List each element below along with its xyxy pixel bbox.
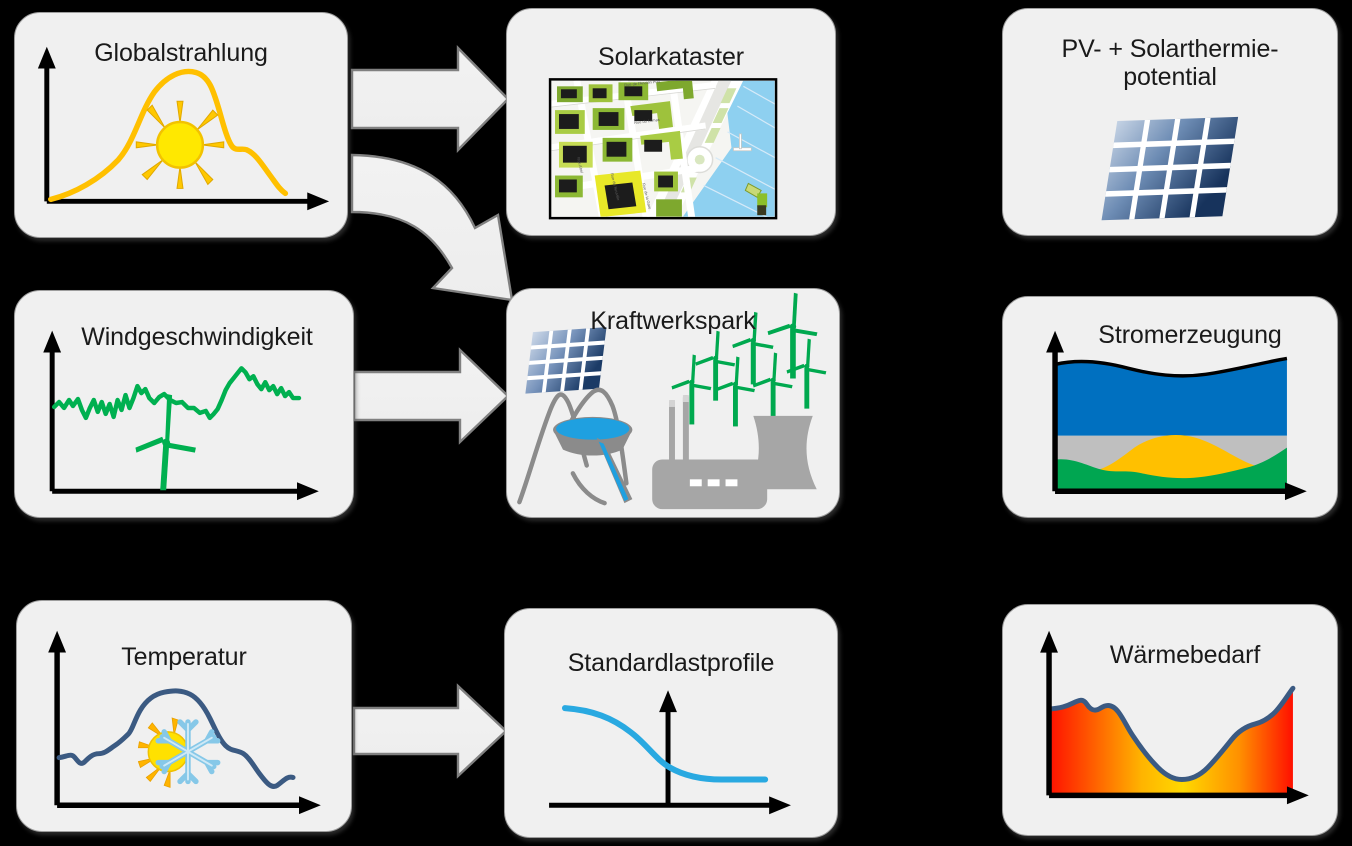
solar-cadastre-map: Rue de l'Ancien Port Rue du Lomas Rue Ab… [550,78,776,218]
standardlastprofile-art [505,609,837,837]
stromerzeugung-art [1003,297,1337,517]
sun-icon [136,101,223,188]
arrow-globalstrahlung-to-kraftwerkspark [352,155,512,300]
card-solarkataster[interactable]: Rue de l'Ancien Port Rue du Lomas Rue Ab… [506,8,836,236]
temperatur-art [17,601,351,831]
wind-farm-icon [672,293,827,427]
pumped-hydro-icon [519,390,632,503]
card-pv-solarthermie[interactable]: PV- + Solarthermie- potential [1002,8,1338,236]
waermebedarf-art [1003,605,1337,835]
heat-demand-area [1049,688,1293,795]
card-windgeschwindigkeit[interactable]: Windgeschwindigkeit [14,290,354,518]
card-kraftwerkspark[interactable]: Kraftwerkspark [506,288,840,518]
card-globalstrahlung[interactable]: Globalstrahlung [14,12,348,238]
arrow-temperatur-to-standardlastprofile [354,686,506,776]
axis-icon [48,631,321,814]
kraftwerkspark-art [507,289,839,517]
card-standardlastprofile[interactable]: Standardlastprofile [504,608,838,838]
pv-panel-icon [1091,108,1248,228]
sun-snowflake-icon [138,718,217,787]
generation-stacked-area [1055,358,1287,491]
card-waermebedarf[interactable]: Wärmebedarf [1002,604,1338,836]
card-stromerzeugung[interactable]: Stromerzeugung [1002,296,1338,518]
card-temperatur[interactable]: Temperatur [16,600,352,832]
windgeschwindigkeit-art [15,291,353,517]
arrow-globalstrahlung-to-solarkataster [352,48,508,150]
load-profile-sigmoid [565,708,765,779]
diagram-canvas: Globalstrahlung [0,0,1352,846]
pv-solarthermie-art [1003,9,1337,235]
globalstrahlung-art [15,13,347,237]
arrow-windgeschwindigkeit-to-kraftwerkspark [354,350,508,442]
windspeed-series [54,368,299,418]
solarkataster-art: Rue de l'Ancien Port Rue du Lomas Rue Ab… [507,9,835,235]
